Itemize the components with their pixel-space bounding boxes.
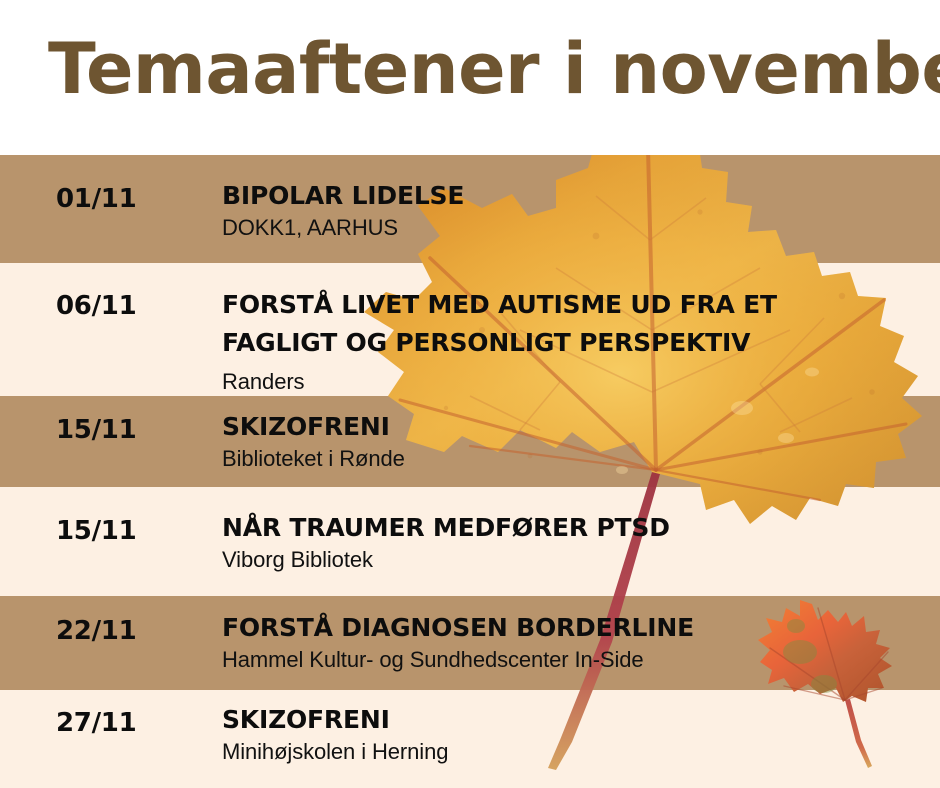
event-venue: Hammel Kultur- og Sundhedscenter In-Side [222, 646, 922, 674]
event-venue: Minihøjskolen i Herning [222, 738, 922, 766]
event-date: 01/11 [56, 184, 136, 214]
event-title: SKIZOFRENI [222, 411, 922, 443]
event-title: FORSTÅ DIAGNOSEN BORDERLINE [222, 612, 922, 644]
list-item: 15/11 SKIZOFRENI Biblioteket i Rønde [0, 396, 940, 487]
event-body: FORSTÅ DIAGNOSEN BORDERLINE Hammel Kultu… [222, 612, 922, 674]
event-body: SKIZOFRENI Minihøjskolen i Herning [222, 704, 922, 766]
event-venue: Viborg Bibliotek [222, 546, 922, 574]
list-item: 15/11 NÅR TRAUMER MEDFØRER PTSD Viborg B… [0, 487, 940, 596]
event-title: FORSTÅ LIVET MED AUTISME UD FRA ET [222, 286, 922, 324]
event-date: 15/11 [56, 415, 136, 445]
event-title-line2: FAGLIGT OG PERSONLIGT PERSPEKTIV [222, 324, 922, 362]
event-date: 27/11 [56, 708, 136, 738]
event-date: 15/11 [56, 516, 136, 546]
poster-canvas: Temaaftener i november 01/11 BIPOLAR LID… [0, 0, 940, 788]
event-title: NÅR TRAUMER MEDFØRER PTSD [222, 512, 922, 544]
event-title: SKIZOFRENI [222, 704, 922, 736]
event-body: NÅR TRAUMER MEDFØRER PTSD Viborg Bibliot… [222, 512, 922, 574]
poster-header: Temaaftener i november [0, 0, 940, 155]
event-venue: Biblioteket i Rønde [222, 445, 922, 473]
event-body: SKIZOFRENI Biblioteket i Rønde [222, 411, 922, 473]
event-venue: Randers [222, 368, 922, 396]
page-title: Temaaftener i november [48, 27, 940, 111]
list-item: 06/11 FORSTÅ LIVET MED AUTISME UD FRA ET… [0, 263, 940, 396]
event-body: FORSTÅ LIVET MED AUTISME UD FRA ET FAGLI… [222, 286, 922, 396]
event-venue: DOKK1, AARHUS [222, 214, 922, 242]
event-body: BIPOLAR LIDELSE DOKK1, AARHUS [222, 180, 922, 242]
event-title: BIPOLAR LIDELSE [222, 180, 922, 212]
event-date: 06/11 [56, 291, 136, 321]
list-item: 01/11 BIPOLAR LIDELSE DOKK1, AARHUS [0, 155, 940, 263]
list-item: 22/11 FORSTÅ DIAGNOSEN BORDERLINE Hammel… [0, 596, 940, 690]
event-date: 22/11 [56, 616, 136, 646]
list-item: 27/11 SKIZOFRENI Minihøjskolen i Herning [0, 690, 940, 788]
